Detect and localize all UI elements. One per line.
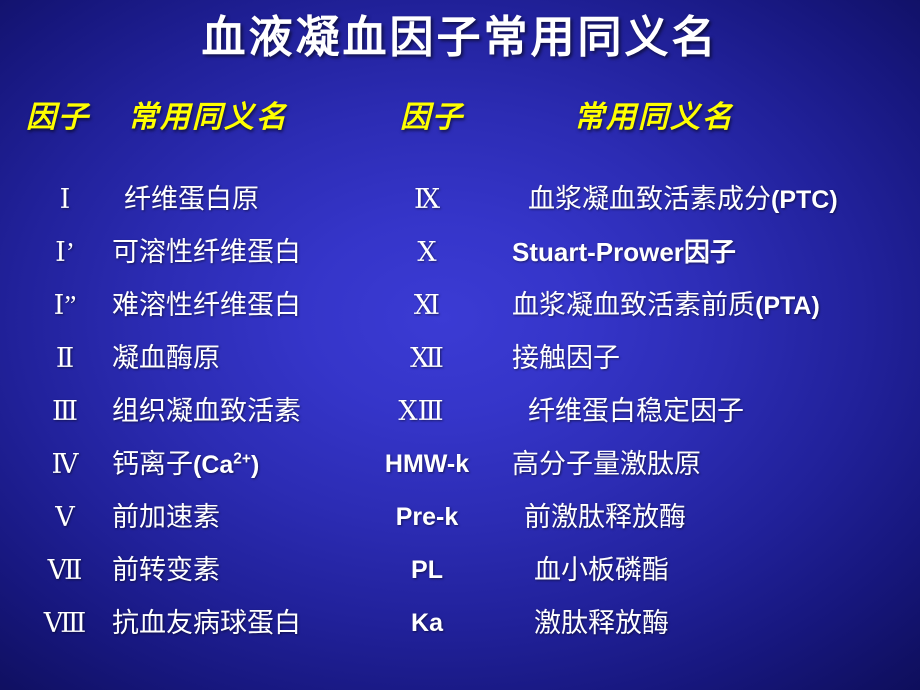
table-row: Ⅳ 钙离子(Ca2+) HMW-k 高分子量激肽原 bbox=[0, 447, 920, 500]
cell-synonym-left: 钙离子(Ca2+) bbox=[112, 447, 259, 482]
cell-factor-right: Ⅻ bbox=[384, 341, 470, 375]
cell-synonym-right: 前激肽释放酶 bbox=[524, 500, 686, 534]
cell-synonym-left: 凝血酶原 bbox=[112, 341, 220, 375]
cell-factor-left: Ⅰ’ bbox=[22, 235, 108, 269]
table-body: Ⅰ 纤维蛋白原 Ⅸ 血浆凝血致活素成分(PTC) Ⅰ’ 可溶性纤维蛋白 Ⅹ St… bbox=[0, 182, 920, 659]
column-header-synonym-left: 常用同义名 bbox=[128, 100, 288, 136]
cell-factor-right: HMW-k bbox=[384, 447, 470, 481]
cell-factor-right: Ka bbox=[384, 606, 470, 640]
table-row: Ⅰ 纤维蛋白原 Ⅸ 血浆凝血致活素成分(PTC) bbox=[0, 182, 920, 235]
column-header-synonym-right: 常用同义名 bbox=[574, 100, 734, 136]
table-row: Ⅶ 前转变素 PL 血小板磷酯 bbox=[0, 553, 920, 606]
cell-factor-left: Ⅶ bbox=[22, 553, 108, 587]
cell-synonym-right: 纤维蛋白稳定因子 bbox=[528, 394, 744, 428]
cell-synonym-left: 难溶性纤维蛋白 bbox=[112, 288, 301, 322]
table-row: Ⅴ 前加速素 Pre-k 前激肽释放酶 bbox=[0, 500, 920, 553]
column-header-factor-right: 因子 bbox=[400, 100, 464, 136]
cell-factor-right: Ⅺ bbox=[384, 288, 470, 322]
cell-synonym-right: 接触因子 bbox=[512, 341, 620, 375]
cell-factor-left: Ⅰ” bbox=[22, 288, 108, 322]
cell-synonym-left: 前加速素 bbox=[112, 500, 220, 534]
cell-synonym-left: 纤维蛋白原 bbox=[124, 182, 259, 216]
table-row: Ⅰ’ 可溶性纤维蛋白 Ⅹ Stuart-Prower因子 bbox=[0, 235, 920, 288]
cell-factor-left: Ⅲ bbox=[22, 394, 108, 428]
table-row: Ⅷ 抗血友病球蛋白 Ka 激肽释放酶 bbox=[0, 606, 920, 659]
cell-factor-left: Ⅳ bbox=[22, 447, 108, 481]
cell-synonym-left: 可溶性纤维蛋白 bbox=[112, 235, 301, 269]
cell-factor-right: Pre-k bbox=[384, 500, 470, 534]
table-row: Ⅲ 组织凝血致活素 ⅩⅢ 纤维蛋白稳定因子 bbox=[0, 394, 920, 447]
cell-synonym-right: 激肽释放酶 bbox=[534, 606, 669, 640]
cell-synonym-right: 血浆凝血致活素前质(PTA) bbox=[512, 288, 820, 323]
cell-factor-left: Ⅱ bbox=[22, 341, 108, 375]
cell-factor-right: ⅩⅢ bbox=[378, 394, 464, 428]
table-row: Ⅱ 凝血酶原 Ⅻ 接触因子 bbox=[0, 341, 920, 394]
cell-factor-left: Ⅴ bbox=[22, 500, 108, 534]
cell-synonym-right: 高分子量激肽原 bbox=[512, 447, 701, 481]
cell-synonym-left: 组织凝血致活素 bbox=[112, 394, 301, 428]
presentation-slide: 血液凝血因子常用同义名 因子 常用同义名 因子 常用同义名 Ⅰ 纤维蛋白原 Ⅸ … bbox=[0, 0, 920, 690]
cell-synonym-left: 抗血友病球蛋白 bbox=[112, 606, 301, 640]
cell-factor-right: PL bbox=[384, 553, 470, 587]
cell-factor-left: Ⅰ bbox=[22, 182, 108, 216]
page-title: 血液凝血因子常用同义名 bbox=[0, 13, 920, 63]
cell-factor-right: Ⅹ bbox=[384, 235, 470, 269]
cell-synonym-right: Stuart-Prower因子 bbox=[512, 235, 736, 269]
cell-synonym-left: 前转变素 bbox=[112, 553, 220, 587]
cell-synonym-right: 血小板磷酯 bbox=[534, 553, 669, 587]
table-row: Ⅰ” 难溶性纤维蛋白 Ⅺ 血浆凝血致活素前质(PTA) bbox=[0, 288, 920, 341]
cell-factor-right: Ⅸ bbox=[384, 182, 470, 216]
column-header-factor-left: 因子 bbox=[26, 100, 90, 136]
cell-factor-left: Ⅷ bbox=[22, 606, 108, 640]
cell-synonym-right: 血浆凝血致活素成分(PTC) bbox=[528, 182, 838, 217]
table-header-row: 因子 常用同义名 因子 常用同义名 bbox=[0, 100, 920, 142]
